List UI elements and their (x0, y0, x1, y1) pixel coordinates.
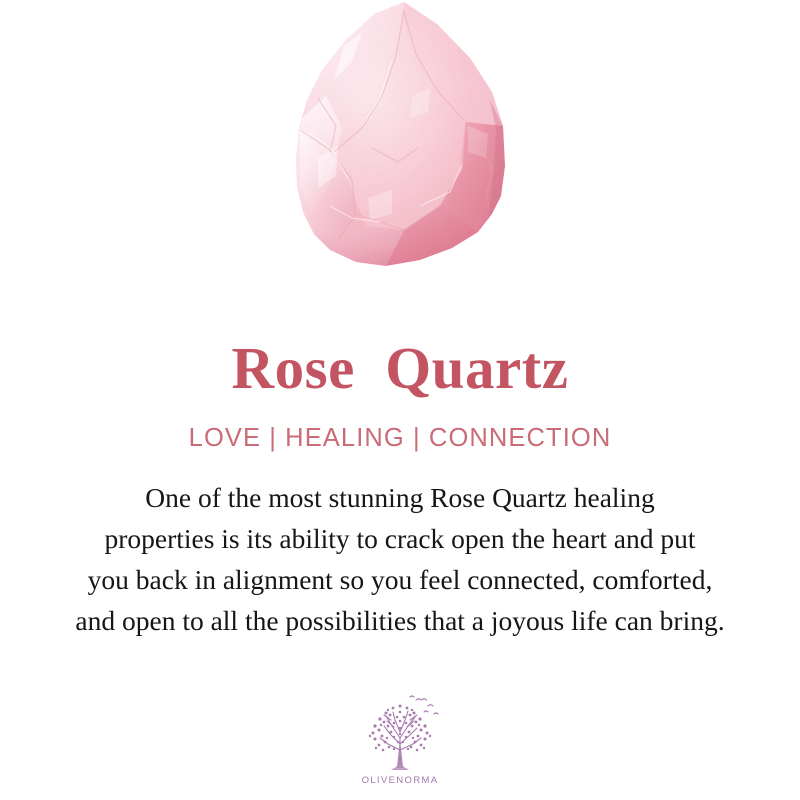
subtitle-keywords: LOVE | HEALING | CONNECTION (189, 426, 612, 452)
tree-with-birds-icon (354, 688, 446, 774)
description-line: you back in alignment so you feel connec… (20, 559, 780, 600)
birds-icon (410, 696, 438, 714)
brand-name: OLIVENORMA (362, 775, 439, 786)
rose-quartz-crystal-image (0, 0, 800, 300)
crystal-shape (290, 0, 515, 275)
description-line: properties is its ability to crack open … (20, 518, 780, 559)
description-paragraph: One of the most stunning Rose Quartz hea… (20, 477, 780, 641)
page-title: Rose Quartz (232, 338, 569, 398)
description-line: One of the most stunning Rose Quartz hea… (20, 477, 780, 518)
description-line: and open to all the possibilities that a… (20, 600, 780, 641)
hero-image-container (0, 0, 800, 300)
brand-logo: OLIVENORMA (0, 688, 800, 786)
rose-quartz-info-card: Rose Quartz LOVE | HEALING | CONNECTION … (0, 0, 800, 800)
